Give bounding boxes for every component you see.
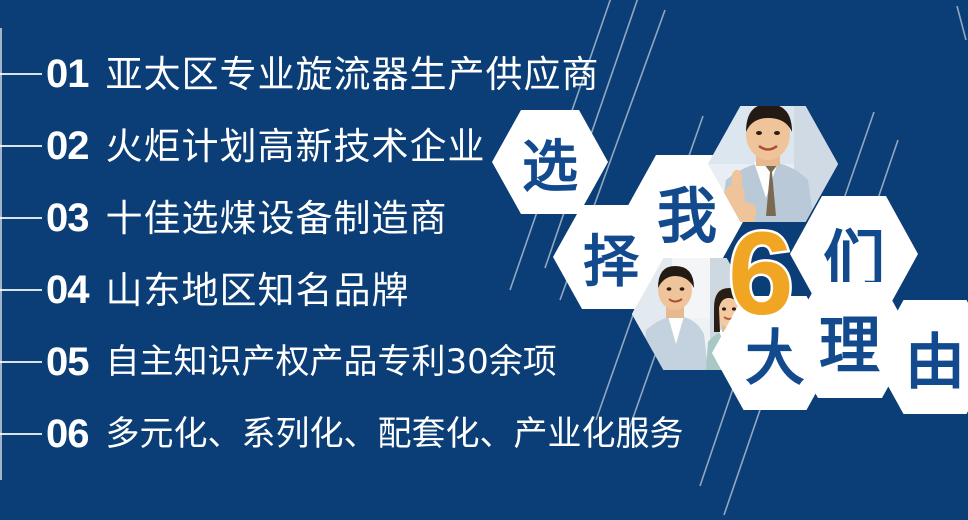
honeycomb-graphic: 选 择 我 (0, 0, 968, 520)
big-number-six: 6 (728, 215, 794, 333)
promo-banner: 01 亚太区专业旋流器生产供应商 02 火炬计划高新技术企业 03 十佳选煤设备… (0, 0, 968, 520)
hex-label: 选 (492, 110, 608, 214)
hex-cell-xuan: 选 (492, 110, 608, 214)
hex-cell-you: 由 (872, 300, 968, 414)
hex-label: 由 (872, 300, 968, 414)
